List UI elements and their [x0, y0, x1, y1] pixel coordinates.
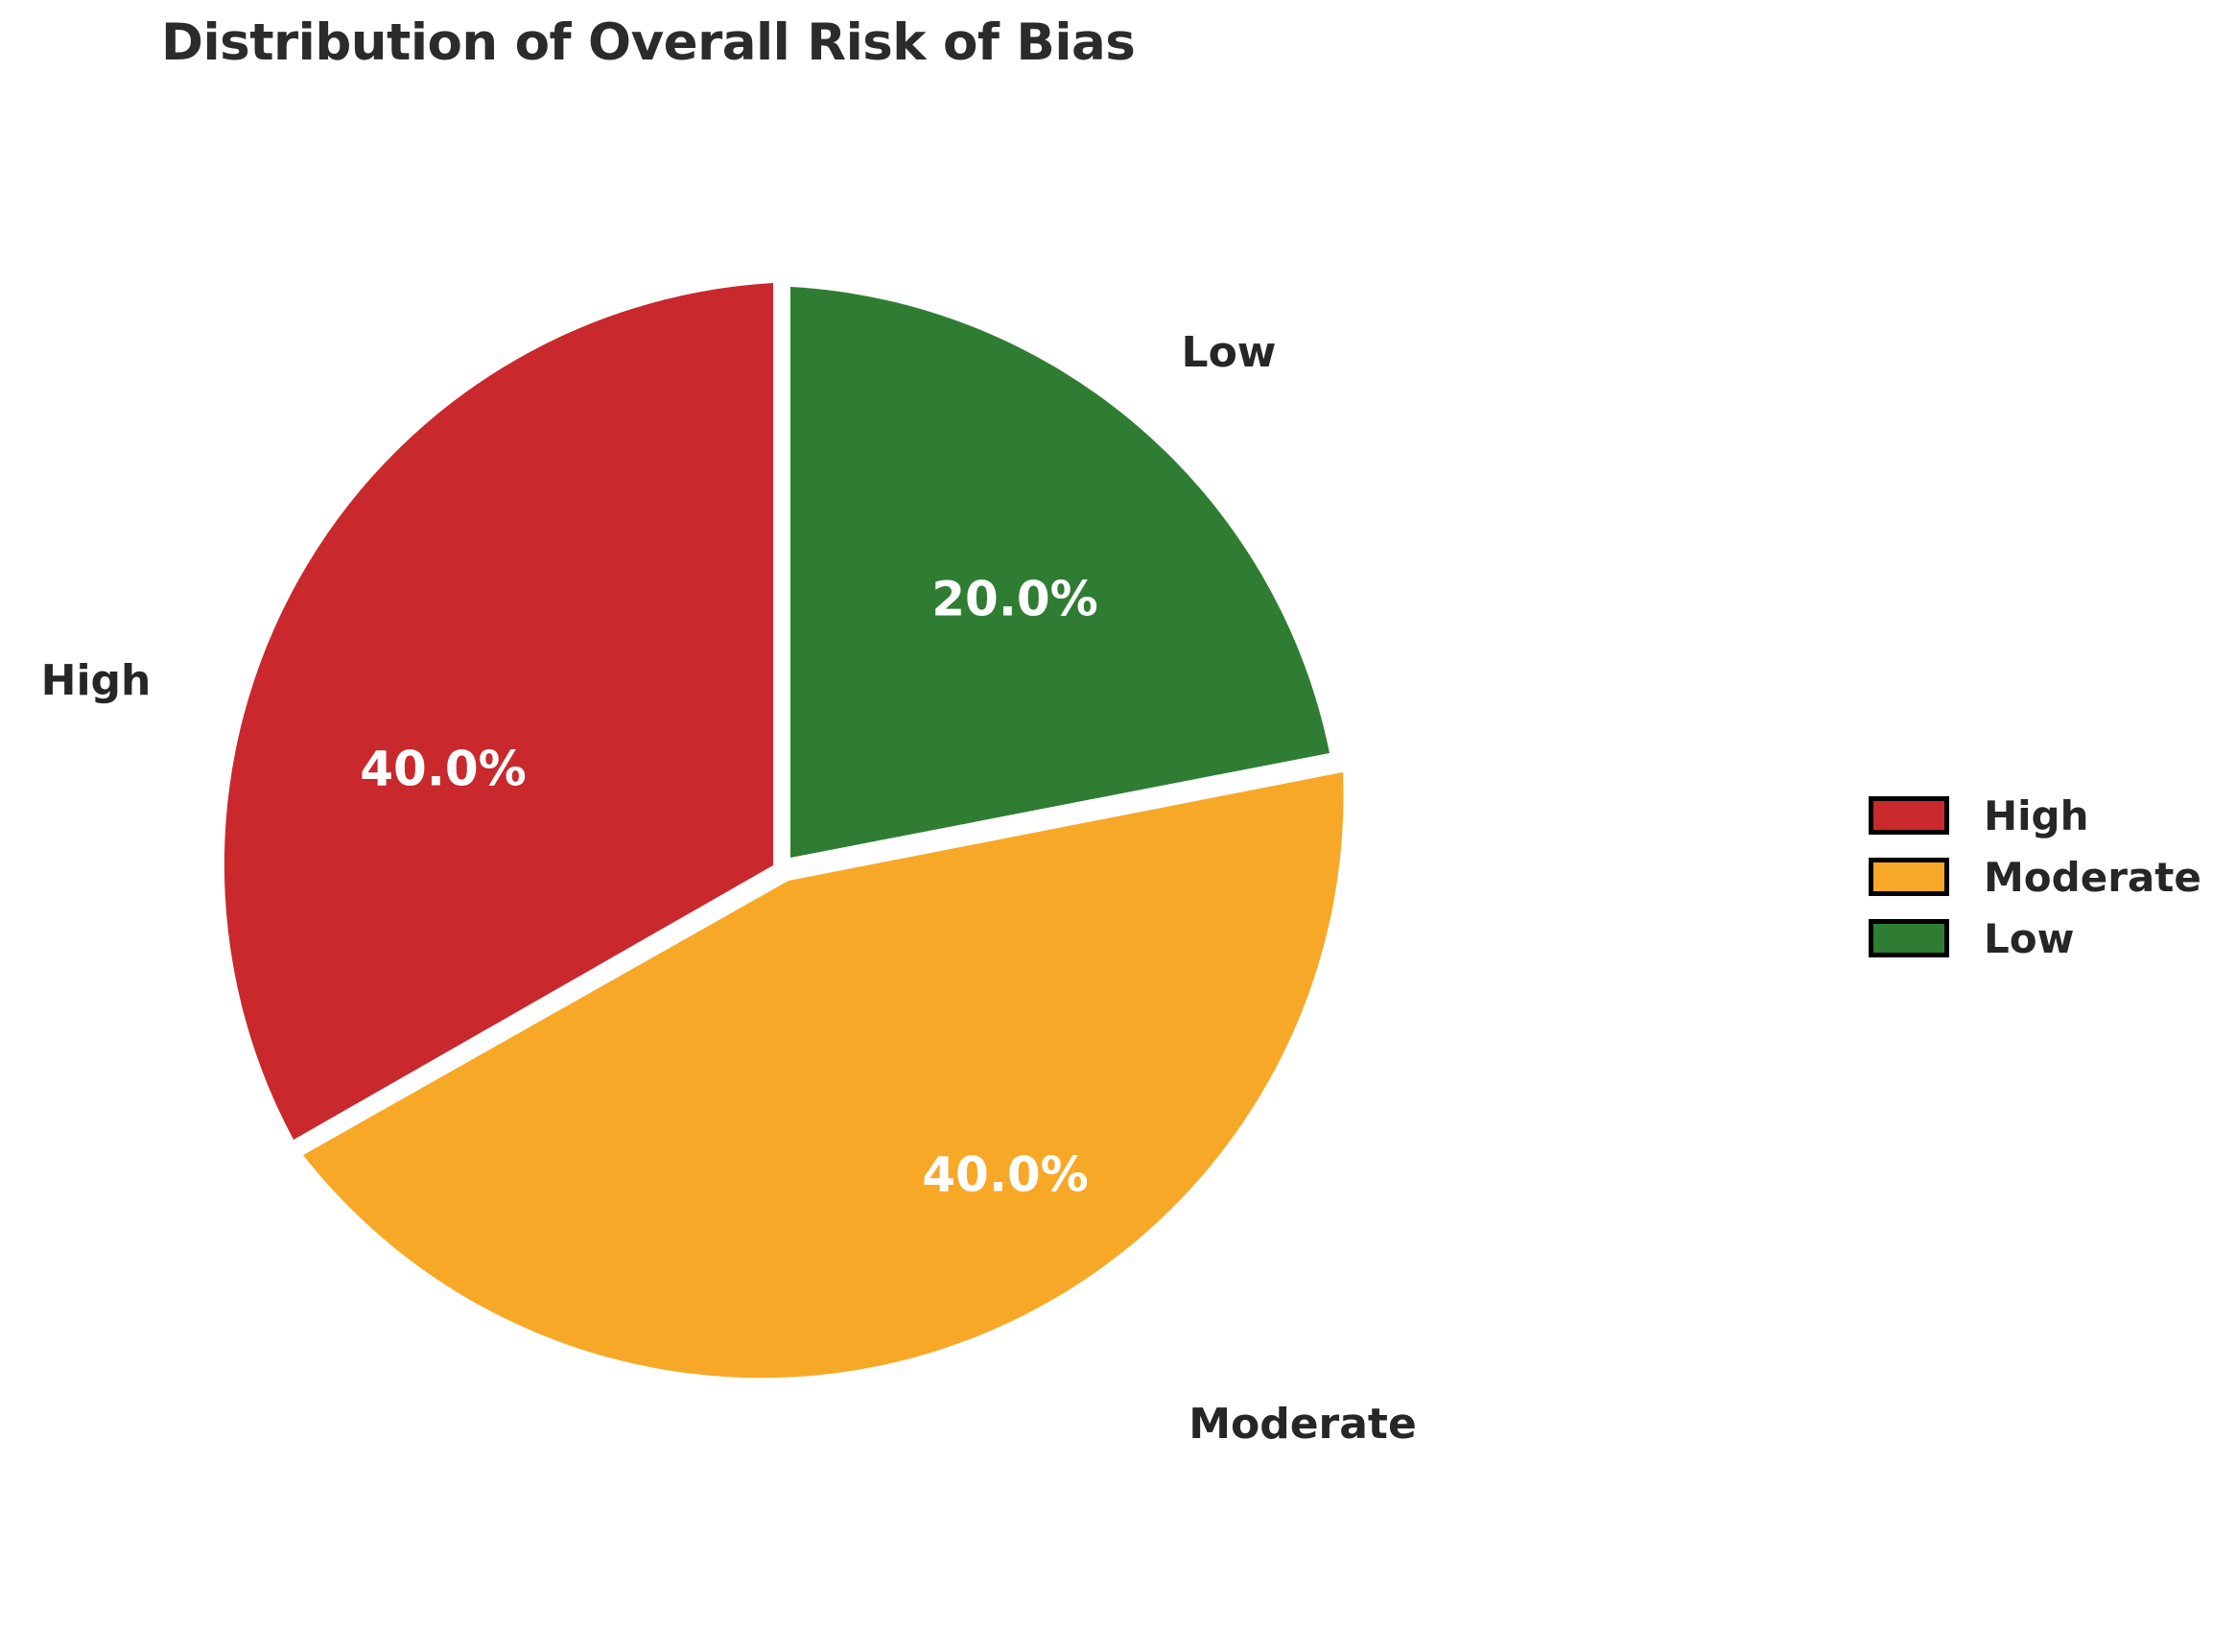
- slice-pct-moderate: 40.0%: [922, 1147, 1088, 1203]
- slice-pct-high: 40.0%: [360, 742, 526, 797]
- legend-swatch-low: [1869, 919, 1949, 957]
- slice-label-low: Low: [1182, 328, 1277, 377]
- legend-swatch-moderate: [1869, 858, 1949, 896]
- pie-chart-area: 40.0% 40.0% 20.0% High Moderate Low: [0, 0, 1631, 1652]
- legend: High Moderate Low: [1869, 785, 2195, 969]
- legend-item-moderate[interactable]: Moderate: [1869, 846, 2195, 908]
- legend-item-high[interactable]: High: [1869, 785, 2195, 846]
- slice-label-moderate: Moderate: [1189, 1400, 1417, 1449]
- legend-swatch-high: [1869, 796, 1949, 835]
- pie-chart-svg: 40.0% 40.0% 20.0% High Moderate Low: [0, 0, 1631, 1652]
- slice-label-high: High: [41, 656, 152, 705]
- legend-item-low[interactable]: Low: [1869, 908, 2195, 969]
- legend-label-moderate: Moderate: [1984, 854, 2201, 901]
- legend-label-low: Low: [1984, 915, 2074, 962]
- figure-canvas: Distribution of Overall Risk of Bias 40.…: [0, 0, 2236, 1652]
- slice-pct-low: 20.0%: [931, 572, 1097, 627]
- legend-label-high: High: [1984, 792, 2089, 839]
